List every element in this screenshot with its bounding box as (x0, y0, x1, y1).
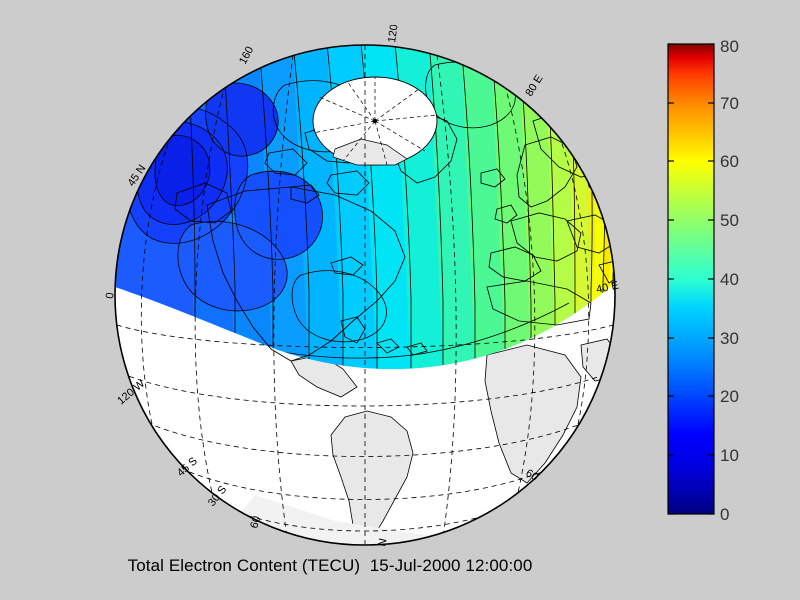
globe-map-axes[interactable]: 160 120 80 E 40 E 0 45 N 120 W 45 S 30 S… (95, 25, 635, 565)
grid-label-0: 0 (104, 292, 117, 299)
colorbar-tick-60: 60 (720, 152, 739, 171)
tec-colorbar[interactable]: 0 10 20 30 40 50 60 70 80 (660, 36, 790, 536)
grid-label-80e: 80 E (523, 73, 545, 99)
colorbar-tick-20: 20 (720, 387, 739, 406)
colorbar-tick-labels: 0 10 20 30 40 50 60 70 80 (720, 37, 739, 524)
colorbar-tick-80: 80 (720, 37, 739, 56)
colorbar-gradient (668, 44, 714, 514)
orthographic-globe[interactable]: 160 120 80 E 40 E 0 45 N 120 W 45 S 30 S… (95, 25, 635, 565)
colorbar-tick-50: 50 (720, 211, 739, 230)
figure-title: Total Electron Content (TECU) 15-Jul-200… (0, 556, 660, 576)
colorbar-tick-70: 70 (720, 94, 739, 113)
matlab-figure-window: 160 120 80 E 40 E 0 45 N 120 W 45 S 30 S… (0, 0, 800, 600)
north-pole-data-gap (313, 77, 437, 165)
colorbar-tick-30: 30 (720, 329, 739, 348)
colorbar-tick-0: 0 (720, 505, 729, 524)
colorbar-axes[interactable]: 0 10 20 30 40 50 60 70 80 (660, 36, 790, 536)
colorbar-tick-10: 10 (720, 446, 739, 465)
grid-label-120: 120 (386, 25, 400, 43)
grid-label-160: 160 (237, 45, 256, 67)
colorbar-tick-40: 40 (720, 270, 739, 289)
